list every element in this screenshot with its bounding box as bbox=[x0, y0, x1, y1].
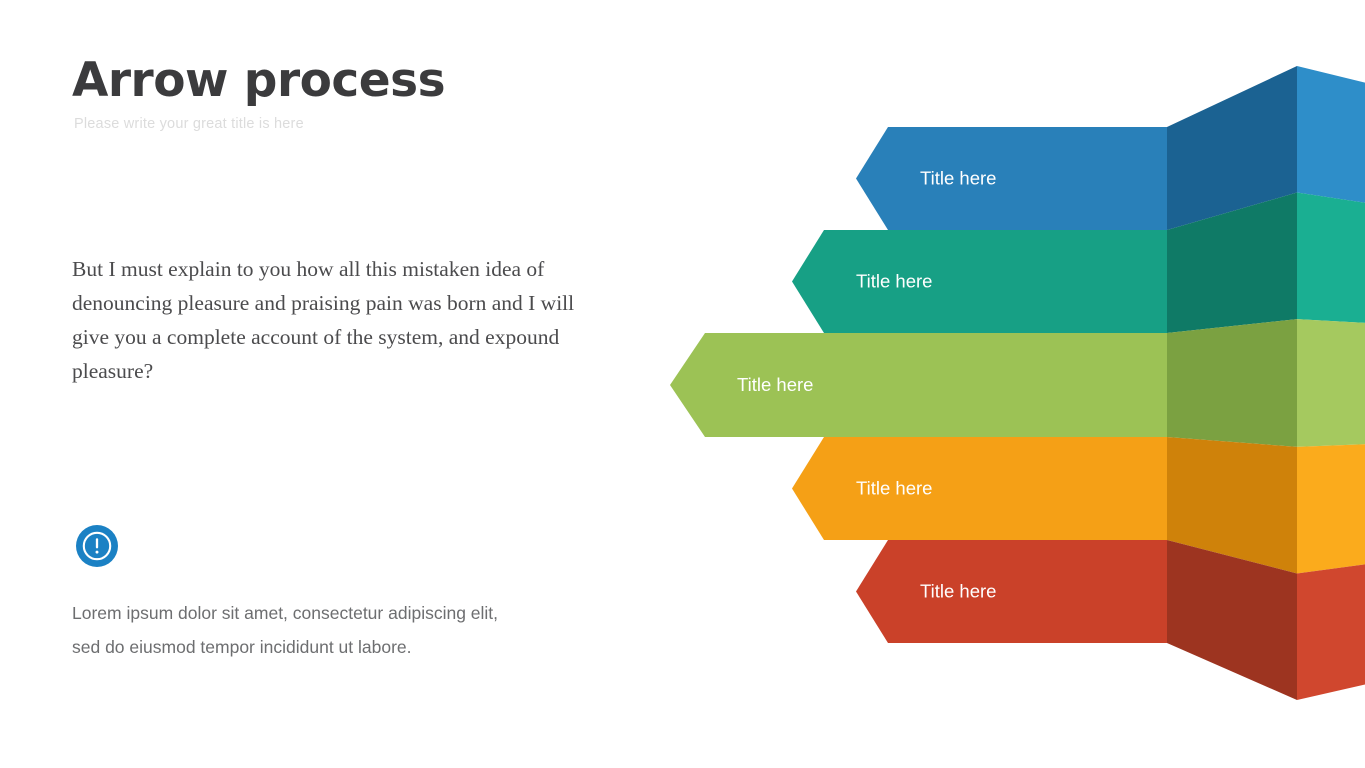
note-paragraph: Lorem ipsum dolor sit amet, consectetur … bbox=[72, 596, 502, 664]
arrow-step-3[interactable] bbox=[670, 319, 1365, 447]
slide-canvas: Arrow process Please write your great ti… bbox=[0, 0, 1365, 768]
page-subtitle: Please write your great title is here bbox=[74, 116, 612, 132]
body-paragraph: But I must explain to you how all this m… bbox=[72, 252, 582, 388]
page-title: Arrow process bbox=[72, 56, 612, 107]
slide-heading-block: Arrow process Please write your great ti… bbox=[72, 56, 612, 132]
exclamation-circle-icon bbox=[76, 525, 118, 567]
